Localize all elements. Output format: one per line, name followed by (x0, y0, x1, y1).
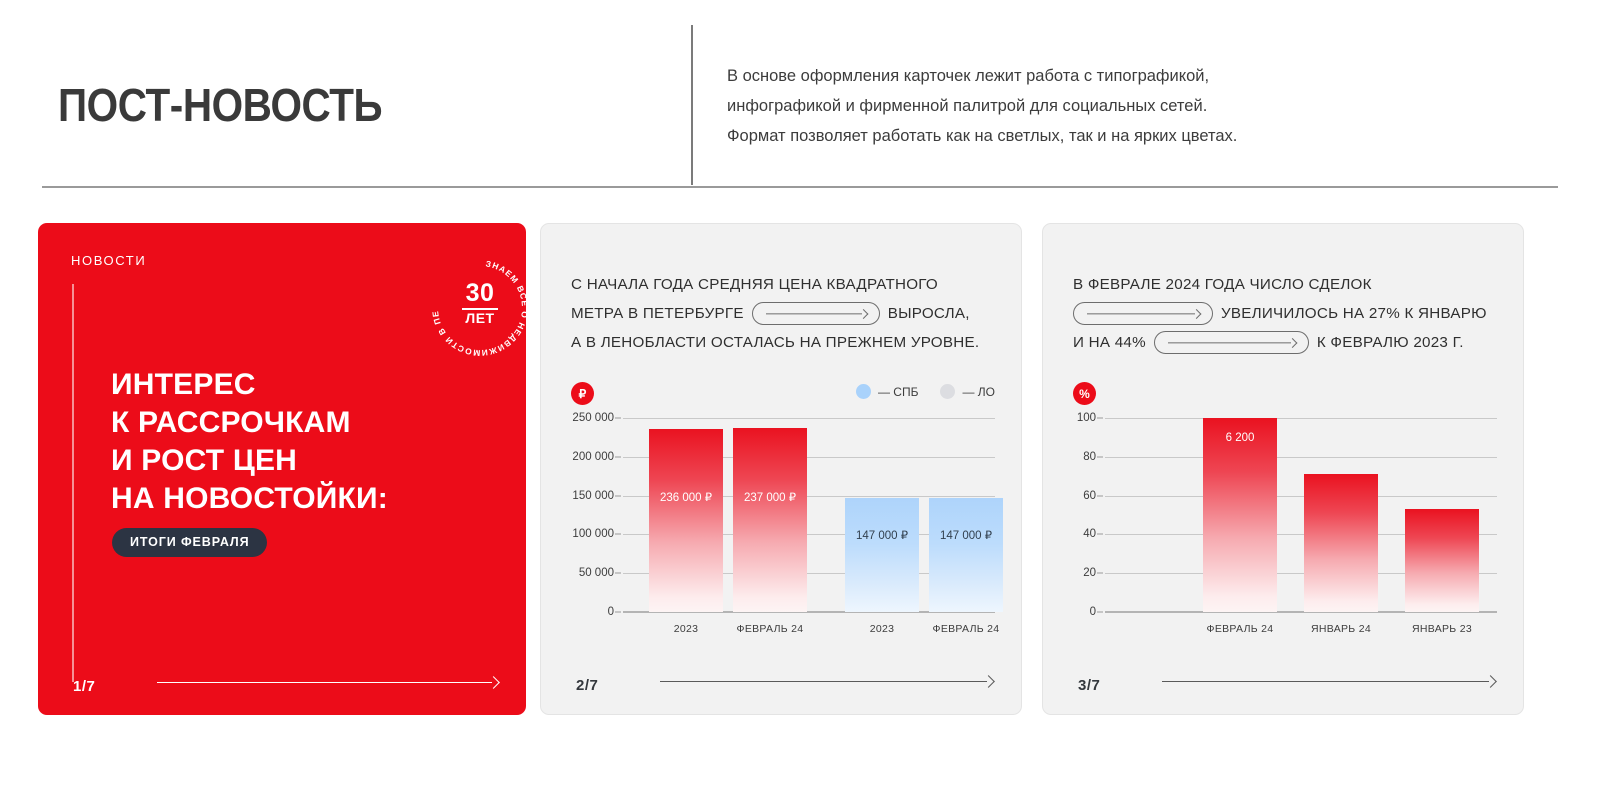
gridline (1105, 418, 1497, 419)
card1-headline-line-1: ИНТЕРЕС (111, 366, 511, 404)
percent-unit-icon: % (1073, 382, 1096, 405)
card2-plot-area: 050 000100 000150 000200 000250 000236 0… (623, 418, 995, 612)
y-axis-tick-label: 50 000 (579, 567, 614, 579)
y-tick-mark (615, 418, 621, 419)
card2-footer: 2/7 (541, 654, 1021, 714)
card-news-cover[interactable]: НОВОСТИ ЗНАЕМ ВСЁ О НЕДВИЖИМОСТИ В ПЕТЕР… (38, 223, 526, 715)
header-description: В основе оформления карточек лежит работ… (727, 61, 1427, 151)
x-axis-tick-label: ФЕВРАЛЬ 24 (733, 623, 807, 635)
arrow-head (487, 676, 500, 689)
card1-page-indicator: 1/7 (73, 678, 95, 695)
y-axis-tick-label: 0 (1090, 606, 1096, 618)
card1-headline-line-2: К РАССРОЧКАМ (111, 404, 511, 442)
card2-page-indicator: 2/7 (576, 677, 598, 694)
y-tick-mark (615, 612, 621, 613)
bar[interactable] (1405, 509, 1479, 612)
ruble-unit-icon: ₽ (571, 382, 594, 405)
arrow-head (1484, 675, 1497, 688)
arrow-head (982, 675, 995, 688)
legend-item-spb: — СПБ (856, 384, 919, 399)
arrow-shaft (1162, 681, 1489, 682)
y-tick-mark (615, 573, 621, 574)
x-axis-tick-label: 2023 (649, 623, 723, 635)
legend-label-spb: — СПБ (878, 385, 919, 399)
page-title: ПОСТ-НОВОСТЬ (58, 78, 382, 132)
card3-page-indicator: 3/7 (1078, 677, 1100, 694)
slide-header: ПОСТ-НОВОСТЬ В основе оформления карточе… (0, 0, 1600, 195)
y-tick-mark (1097, 418, 1103, 419)
slide-canvas: ПОСТ-НОВОСТЬ В основе оформления карточе… (0, 0, 1600, 792)
header-desc-line-1: В основе оформления карточек лежит работ… (727, 61, 1427, 91)
card1-headline-line-4: НА НОВОСТОЙКИ: (111, 480, 511, 518)
card2-chart: ₽ — СПБ — ЛО 050 000100 000150 000200 00… (541, 224, 1021, 714)
bar[interactable]: 147 000 ₽ (929, 498, 1003, 612)
badge-number: 30 (427, 280, 526, 306)
bar-value-label: 147 000 ₽ (845, 528, 919, 542)
card2-next-arrow-icon[interactable] (660, 677, 993, 687)
y-axis-tick-label: 100 000 (572, 528, 614, 540)
card1-next-arrow-icon[interactable] (157, 678, 498, 688)
y-axis-tick-label: 250 000 (572, 412, 614, 424)
legend-item-lo: — ЛО (940, 384, 995, 399)
arrow-shaft (157, 682, 492, 683)
bar[interactable]: 6 200 (1203, 418, 1277, 612)
y-axis-tick-label: 40 (1083, 528, 1096, 540)
card2-legend: — СПБ — ЛО (856, 384, 995, 399)
arrow-shaft (660, 681, 987, 682)
y-tick-mark (615, 534, 621, 535)
legend-dot-spb (856, 384, 871, 399)
header-desc-line-3: Формат позволяет работать как на светлых… (727, 121, 1427, 151)
legend-dot-lo (940, 384, 955, 399)
y-tick-mark (1097, 495, 1103, 496)
card3-next-arrow-icon[interactable] (1162, 677, 1495, 687)
header-horizontal-rule (42, 186, 1558, 188)
y-axis-tick-label: 0 (608, 606, 614, 618)
card1-tag-pill[interactable]: ИТОГИ ФЕВРАЛЯ (112, 528, 267, 557)
bar[interactable] (1304, 474, 1378, 612)
gridline (1105, 457, 1497, 458)
bar-value-label: 236 000 ₽ (649, 490, 723, 504)
bar[interactable]: 236 000 ₽ (649, 429, 723, 612)
bar[interactable]: 147 000 ₽ (845, 498, 919, 612)
x-axis-tick-label: ЯНВАРЬ 24 (1304, 623, 1378, 635)
y-axis-tick-label: 200 000 (572, 451, 614, 463)
legend-label-lo: — ЛО (962, 385, 995, 399)
card1-kicker: НОВОСТИ (71, 253, 146, 268)
card1-footer: 1/7 (38, 655, 526, 715)
y-tick-mark (1097, 534, 1103, 535)
badge-sublabel: ЛЕТ (427, 310, 526, 327)
card3-footer: 3/7 (1043, 654, 1523, 714)
y-axis-tick-label: 100 (1077, 412, 1096, 424)
y-tick-mark (1097, 573, 1103, 574)
x-axis-tick-label: ФЕВРАЛЬ 24 (1203, 623, 1277, 635)
gridline (1105, 496, 1497, 497)
card-price-chart[interactable]: С НАЧАЛА ГОДА СРЕДНЯЯ ЦЕНА КВАДРАТНОГО М… (540, 223, 1022, 715)
card1-vertical-rule (72, 284, 74, 682)
anniversary-badge-icon: ЗНАЕМ ВСЁ О НЕДВИЖИМОСТИ В ПЕТЕРБУРГЕ 30… (427, 255, 526, 361)
y-axis-tick-label: 80 (1083, 451, 1096, 463)
cards-row: НОВОСТИ ЗНАЕМ ВСЁ О НЕДВИЖИМОСТИ В ПЕТЕР… (0, 223, 1600, 715)
card3-plot-area: 0204060801006 200ФЕВРАЛЬ 24ЯНВАРЬ 24ЯНВА… (1105, 418, 1497, 612)
header-desc-line-2: инфографикой и фирменной палитрой для со… (727, 91, 1427, 121)
card3-chart: % 0204060801006 200ФЕВРАЛЬ 24ЯНВАРЬ 24ЯН… (1043, 224, 1523, 714)
x-axis-tick-label: ФЕВРАЛЬ 24 (929, 623, 1003, 635)
y-axis-tick-label: 20 (1083, 567, 1096, 579)
y-axis-tick-label: 150 000 (572, 490, 614, 502)
bar-value-label: 147 000 ₽ (929, 528, 1003, 542)
x-axis-tick-label: 2023 (845, 623, 919, 635)
y-tick-mark (1097, 456, 1103, 457)
bar-value-label: 6 200 (1203, 432, 1277, 444)
card-deals-chart[interactable]: В ФЕВРАЛЕ 2024 ГОДА ЧИСЛО СДЕЛОК УВЕЛИЧИ… (1042, 223, 1524, 715)
y-axis-tick-label: 60 (1083, 490, 1096, 502)
gridline (623, 418, 995, 419)
card1-headline: ИНТЕРЕС К РАССРОЧКАМ И РОСТ ЦЕН НА НОВОС… (111, 366, 511, 518)
bar[interactable]: 237 000 ₽ (733, 428, 807, 612)
x-axis-tick-label: ЯНВАРЬ 23 (1405, 623, 1479, 635)
y-tick-mark (1097, 612, 1103, 613)
bar-value-label: 237 000 ₽ (733, 490, 807, 504)
y-tick-mark (615, 456, 621, 457)
y-tick-mark (615, 495, 621, 496)
header-vertical-divider (691, 25, 693, 185)
card1-headline-line-3: И РОСТ ЦЕН (111, 442, 511, 480)
